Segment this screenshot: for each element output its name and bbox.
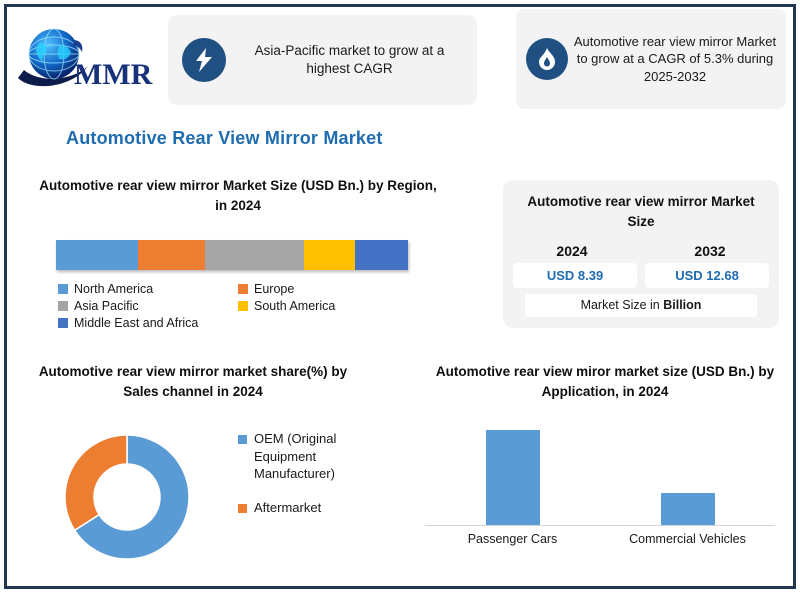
page-title: Automotive Rear View Mirror Market bbox=[66, 128, 383, 149]
market-size-unit-prefix: Market Size in bbox=[581, 298, 664, 312]
application-label-commercial-vehicles: Commercial Vehicles bbox=[600, 532, 775, 546]
header-card-asia-pacific: Asia-Pacific market to grow at a highest… bbox=[168, 15, 477, 105]
application-plot-area bbox=[425, 420, 775, 526]
lightning-bolt-icon bbox=[182, 38, 226, 82]
region-stacked-bar bbox=[56, 240, 408, 270]
legend-item-aftermarket: Aftermarket bbox=[238, 499, 398, 517]
infographic-canvas: MMR Asia-Pacific market to grow at a hig… bbox=[0, 0, 800, 593]
legend-item-asia-pacific: Asia Pacific bbox=[58, 299, 238, 313]
sales-channel-donut bbox=[55, 425, 200, 577]
market-size-year-end: 2032 bbox=[641, 243, 779, 259]
region-segment-asia-pacific bbox=[205, 240, 304, 270]
region-segment-europe bbox=[138, 240, 205, 270]
legend-swatch-south-america bbox=[238, 301, 248, 311]
sales-channel-legend: OEM (Original Equipment Manufacturer) Af… bbox=[238, 430, 398, 532]
legend-item-europe: Europe bbox=[238, 282, 418, 296]
legend-swatch-oem bbox=[238, 435, 247, 444]
market-size-value-end: USD 12.68 bbox=[645, 263, 769, 288]
header-card-cagr-text: Automotive rear view mirror Market to gr… bbox=[568, 33, 786, 84]
legend-swatch-middle-east-africa bbox=[58, 318, 68, 328]
legend-label-oem: OEM (Original Equipment Manufacturer) bbox=[254, 430, 398, 483]
market-size-year-start: 2024 bbox=[503, 243, 641, 259]
donut-slice-aftermarket bbox=[65, 435, 127, 530]
legend-label-europe: Europe bbox=[254, 282, 294, 296]
application-axis-labels: Passenger Cars Commercial Vehicles bbox=[425, 532, 775, 546]
market-size-unit-value: Billion bbox=[663, 298, 701, 312]
region-segment-north-america bbox=[56, 240, 138, 270]
market-size-box-title: Automotive rear view mirror Market Size bbox=[503, 180, 779, 231]
region-chart-title: Automotive rear view mirror Market Size … bbox=[38, 176, 438, 217]
legend-item-middle-east-africa: Middle East and Africa bbox=[58, 316, 238, 330]
legend-item-oem: OEM (Original Equipment Manufacturer) bbox=[238, 430, 398, 483]
flame-icon bbox=[526, 38, 568, 80]
region-segment-middle-east-and-africa bbox=[355, 240, 408, 270]
region-segment-south-america bbox=[304, 240, 355, 270]
svg-text:MMR: MMR bbox=[74, 58, 153, 91]
legend-item-south-america: South America bbox=[238, 299, 418, 313]
mmr-globe-logo: MMR bbox=[14, 22, 164, 94]
application-chart-title: Automotive rear view miror market size (… bbox=[425, 362, 785, 403]
legend-swatch-asia-pacific bbox=[58, 301, 68, 311]
legend-swatch-aftermarket bbox=[238, 504, 247, 513]
application-bar-commercial-vehicles bbox=[661, 493, 715, 525]
legend-label-asia-pacific: Asia Pacific bbox=[74, 299, 139, 313]
application-label-passenger-cars: Passenger Cars bbox=[425, 532, 600, 546]
market-size-value-start: USD 8.39 bbox=[513, 263, 637, 288]
legend-label-middle-east-africa: Middle East and Africa bbox=[74, 316, 198, 330]
header-card-asia-pacific-text: Asia-Pacific market to grow at a highest… bbox=[226, 42, 477, 78]
legend-swatch-europe bbox=[238, 284, 248, 294]
application-bar-passenger-cars bbox=[486, 430, 540, 525]
sales-channel-chart-title: Automotive rear view mirror market share… bbox=[28, 362, 358, 403]
market-size-box: Automotive rear view mirror Market Size … bbox=[503, 180, 779, 328]
legend-label-south-america: South America bbox=[254, 299, 335, 313]
region-legend: North America Europe Asia Pacific South … bbox=[58, 282, 418, 333]
market-size-unit-note: Market Size in Billion bbox=[525, 294, 757, 317]
application-bar-chart: Passenger Cars Commercial Vehicles bbox=[425, 420, 775, 570]
header-card-cagr: Automotive rear view mirror Market to gr… bbox=[516, 9, 786, 109]
legend-label-north-america: North America bbox=[74, 282, 153, 296]
legend-label-aftermarket: Aftermarket bbox=[254, 499, 321, 517]
legend-item-north-america: North America bbox=[58, 282, 238, 296]
legend-swatch-north-america bbox=[58, 284, 68, 294]
